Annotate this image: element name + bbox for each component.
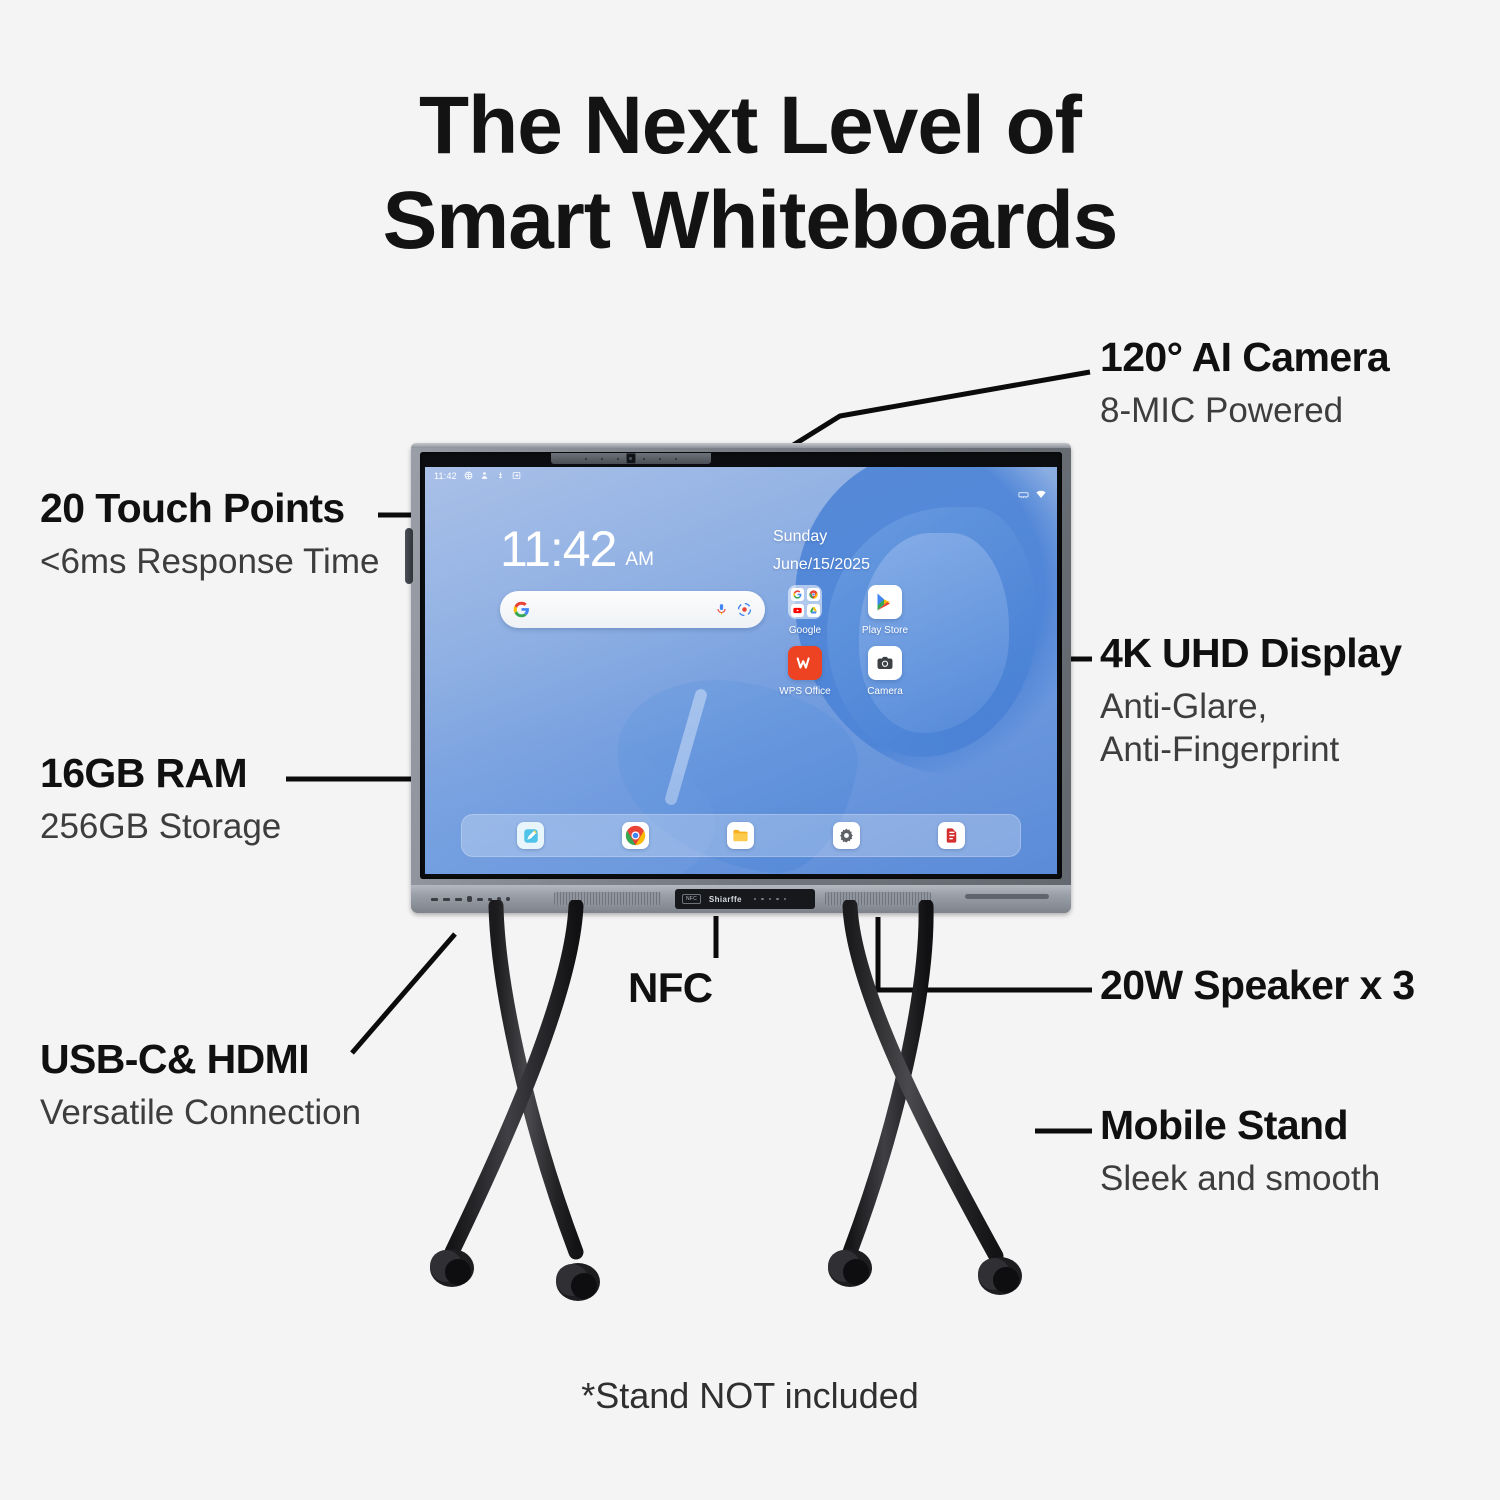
callout-display: 4K UHD Display Anti-Glare, Anti-Fingerpr… [1100,632,1401,770]
play-store-glyph [875,592,895,612]
callout-heading: 4K UHD Display [1100,632,1401,675]
screenshot-icon[interactable] [512,471,521,480]
callout-subtext-2: Anti-Fingerprint [1100,730,1401,771]
callout-subtext: Versatile Connection [40,1093,361,1134]
folder-glyph [732,827,749,844]
wifi-icon[interactable] [1035,489,1047,500]
callout-subtext: 256GB Storage [40,807,281,848]
callout-ai-camera: 120° AI Camera 8-MIC Powered [1100,336,1389,432]
mic-hole-icon [601,458,603,460]
ai-camera-lens-icon [626,453,636,464]
play-store-icon [868,585,902,619]
wallpaper-shape [664,688,709,807]
mic-hole-icon [675,458,677,460]
chrome-glyph [625,825,646,846]
wps-office-icon [788,646,822,680]
disclaimer-text: *Stand NOT included [0,1375,1500,1417]
google-lens-icon[interactable] [737,602,752,617]
gear-glyph [838,827,855,844]
callout-usb-hdmi: USB-C& HDMI Versatile Connection [40,1038,361,1134]
side-power-button[interactable] [405,528,413,584]
date-weekday: Sunday [773,523,870,551]
callout-mobile-stand: Mobile Stand Sleek and smooth [1100,1104,1380,1200]
google-g-icon [793,590,802,599]
callout-heading: 120° AI Camera [1100,336,1389,379]
dock-bar [461,814,1021,857]
cast-icon[interactable] [464,471,473,480]
clock-meridiem: AM [625,550,654,569]
mic-hole-icon [617,458,619,460]
callout-subtext: Sleek and smooth [1100,1159,1380,1200]
app-wps-office[interactable]: WPS Office [769,646,841,697]
caster-wheel [828,1249,872,1287]
callout-heading: NFC [628,966,713,1010]
chrome-icon[interactable] [622,822,649,849]
whiteboard-icon[interactable] [517,822,544,849]
app-label: Camera [867,686,903,697]
mic-hole-icon [643,458,645,460]
device-screen[interactable]: 11:42 [425,467,1057,874]
status-bar-time: 11:42 [434,471,457,481]
callout-heading: USB-C& HDMI [40,1038,361,1081]
user-icon[interactable] [480,471,489,480]
folder-slot-search [791,588,804,601]
wps-w-glyph [794,652,816,674]
callout-heading: 20 Touch Points [40,487,379,530]
google-search-bar[interactable] [500,591,765,628]
clock-time: 11:42 [500,524,616,574]
smart-whiteboard-device: 11:42 [411,443,1071,913]
microphone-icon[interactable] [715,602,728,617]
drive-icon [809,606,818,615]
status-bar: 11:42 [425,467,1057,484]
callout-heading: Mobile Stand [1100,1104,1380,1147]
pen-tray-slot [965,894,1049,899]
app-camera[interactable]: Camera [849,646,921,697]
folder-slot-drive [807,604,820,617]
date-widget: Sunday June/15/2025 [773,523,870,579]
ethernet-icon[interactable] [1018,489,1029,500]
camera-icon [868,646,902,680]
infographic-canvas: The Next Level of Smart Whiteboards [0,0,1500,1500]
eshare-icon[interactable] [938,822,965,849]
callout-ram: 16GB RAM 256GB Storage [40,752,281,848]
app-grid: Google Play Store [769,585,919,697]
mobile-stand [380,900,1120,1320]
whiteboard-glyph [522,827,540,845]
settings-gear-icon[interactable] [833,822,860,849]
callout-subtext: <6ms Response Time [40,542,379,583]
app-label: WPS Office [779,686,831,697]
camera-strip [551,453,711,464]
usb-icon[interactable] [496,471,505,480]
stand-leg-right [828,906,1022,1295]
callout-subtext: Anti-Glare, [1100,687,1401,728]
callout-touch-points: 20 Touch Points <6ms Response Time [40,487,379,583]
app-play-store[interactable]: Play Store [849,585,921,636]
callout-heading: 20W Speaker x 3 [1100,964,1415,1007]
app-label: Google [789,625,821,636]
callout-subtext: 8-MIC Powered [1100,391,1389,432]
callout-nfc: NFC [628,966,713,1010]
callout-speaker: 20W Speaker x 3 [1100,964,1415,1007]
camera-glyph [876,654,894,672]
caster-wheel [556,1263,600,1301]
mic-hole-icon [659,458,661,460]
status-bar-right-icons [1018,489,1047,500]
app-google-folder[interactable]: Google [769,585,841,636]
caster-wheel [978,1257,1022,1295]
folder-slot-chrome [807,588,820,601]
app-label: Play Store [862,625,908,636]
google-g-icon [513,601,530,618]
files-icon[interactable] [727,822,754,849]
youtube-icon [793,606,802,615]
chrome-icon [809,590,818,599]
display-inner-frame: 11:42 [420,452,1062,879]
callout-heading: 16GB RAM [40,752,281,795]
google-folder-icon [788,585,822,619]
clock-widget: 11:42 AM [500,524,654,574]
clock-time-row: 11:42 AM [500,524,654,574]
stand-leg-left [430,906,600,1301]
date-full: June/15/2025 [773,551,870,579]
mic-hole-icon [585,458,587,460]
caster-wheel [430,1249,474,1287]
folder-slot-youtube [791,604,804,617]
eshare-glyph [942,826,961,845]
